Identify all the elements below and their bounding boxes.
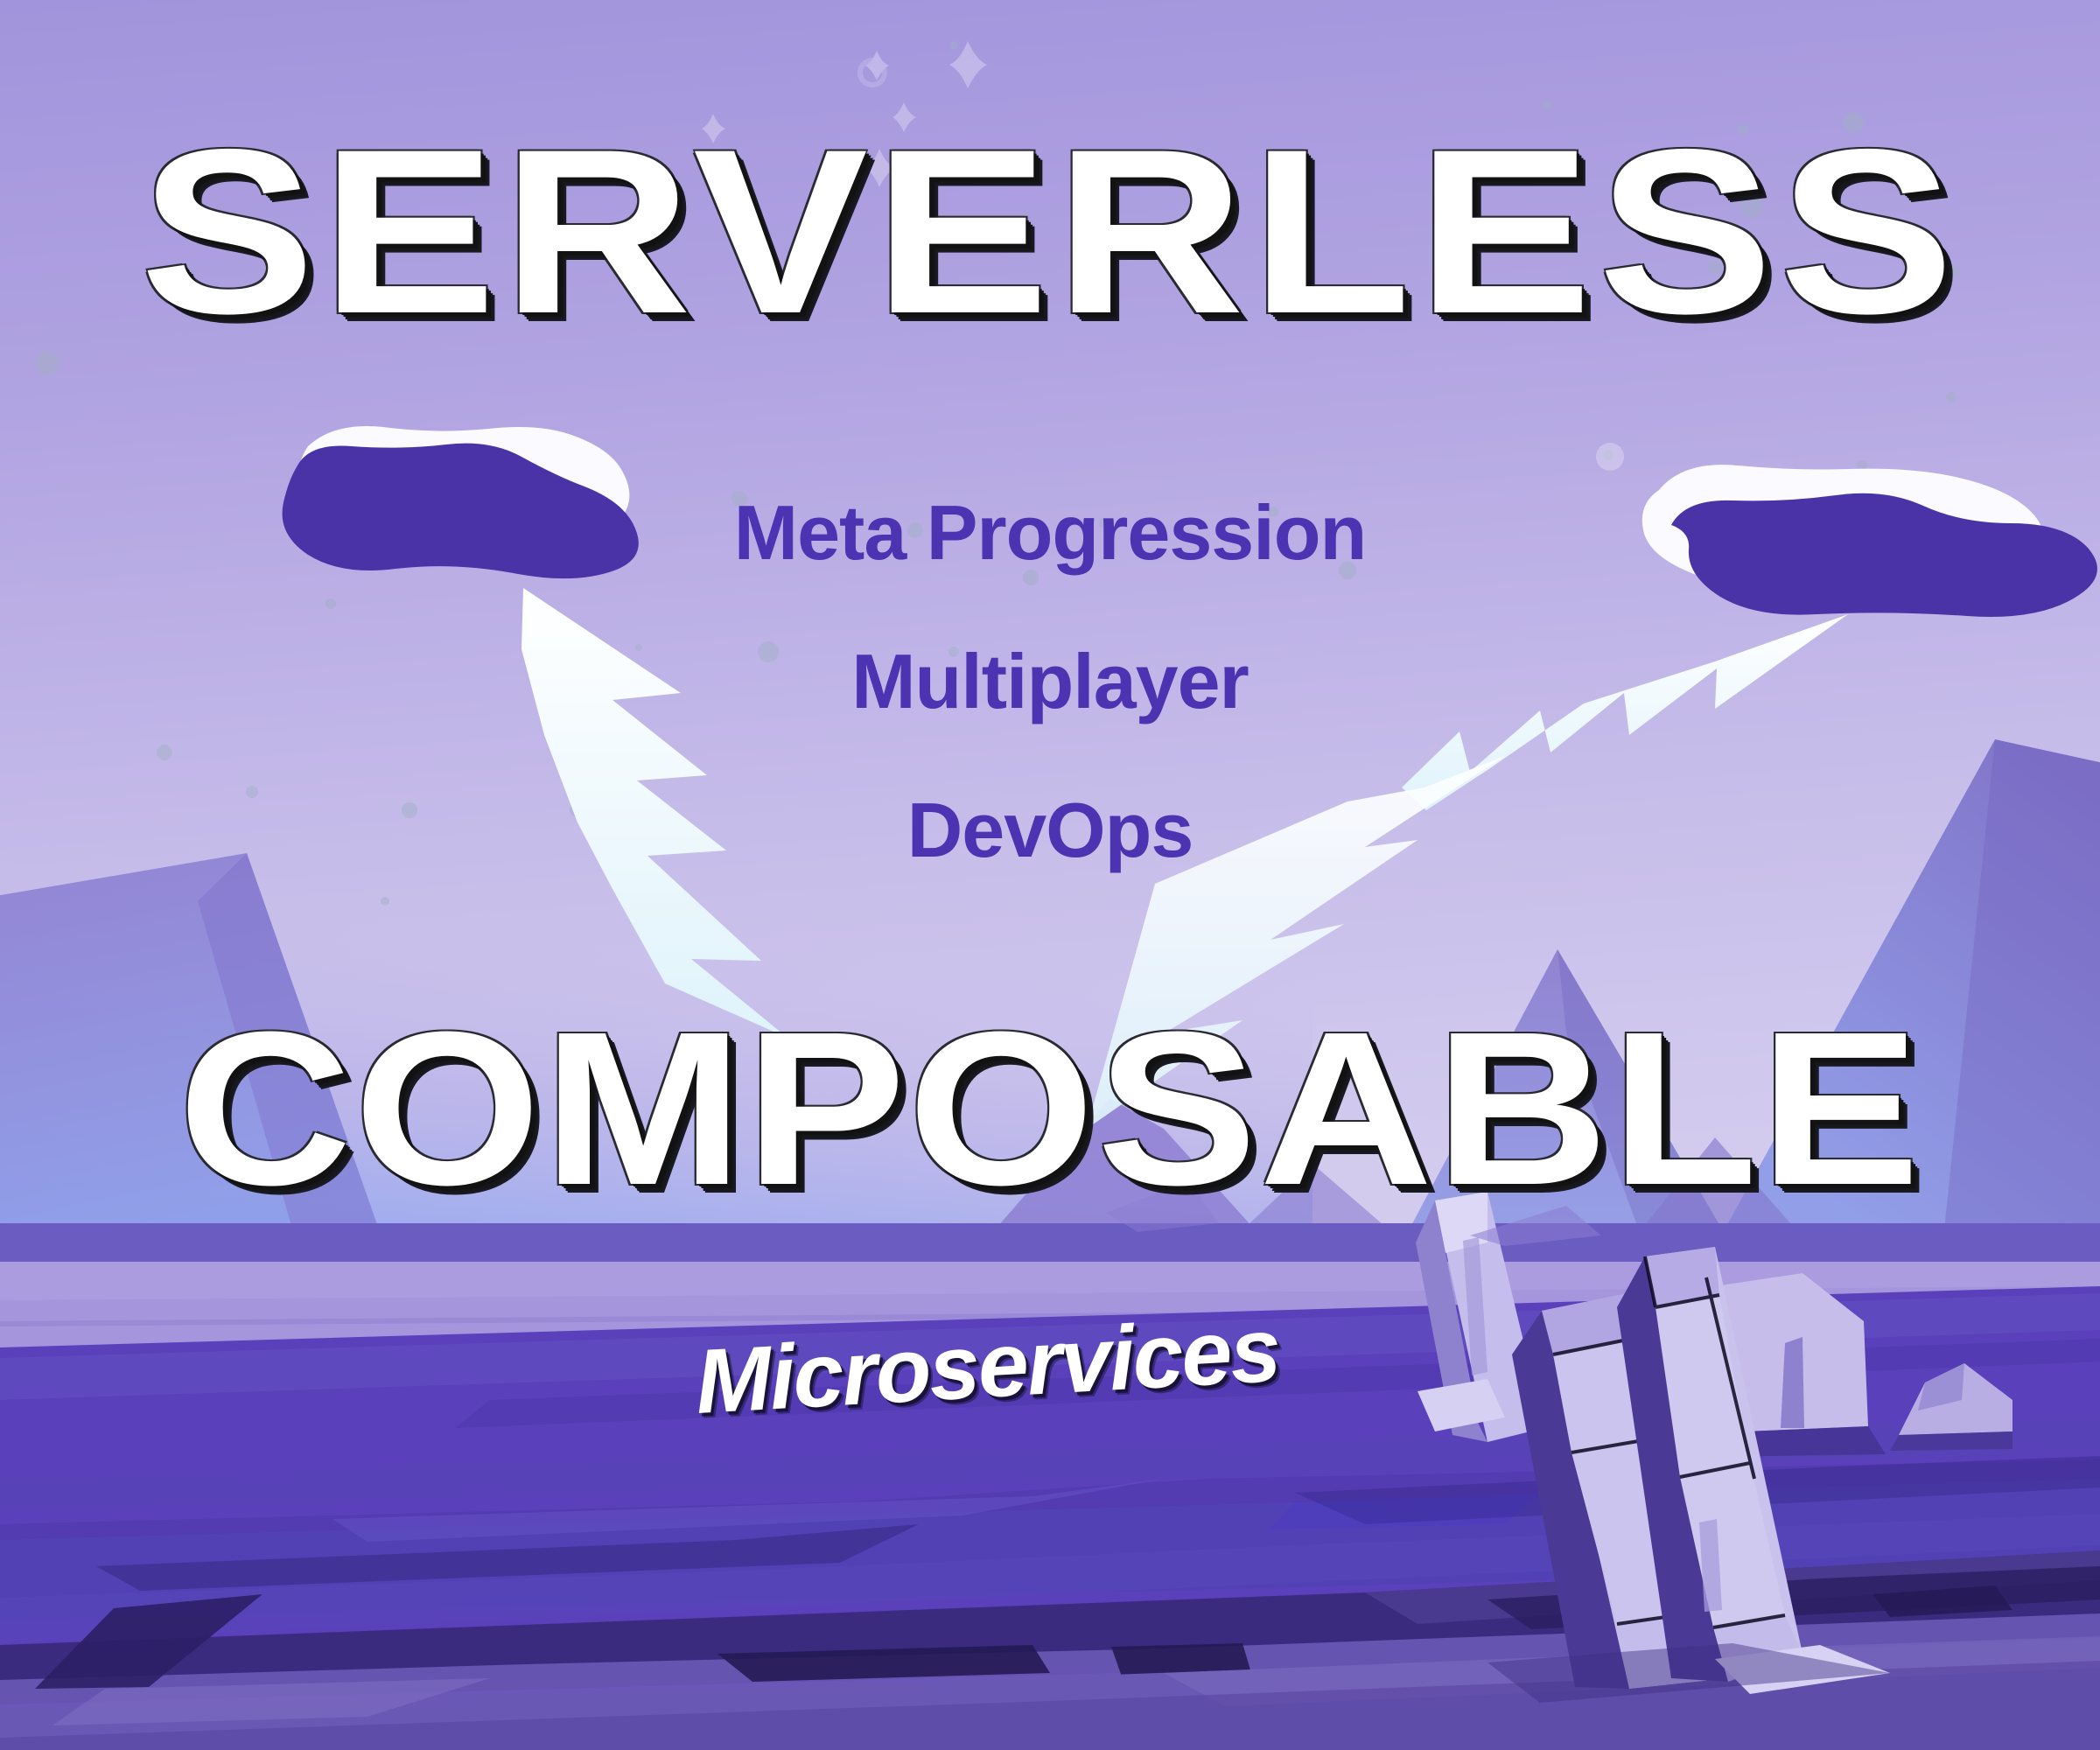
headline-composable: COMPOSABLE	[178, 999, 1922, 1218]
feature-meta-progression: Meta Progression	[734, 494, 1366, 571]
headline-serverless: SERVERLESS	[140, 114, 1960, 348]
poster-canvas: SERVERLESS Meta Progression Multiplayer …	[0, 0, 2100, 1750]
feature-multiplayer: Multiplayer	[851, 643, 1249, 720]
feature-devops: DevOps	[907, 792, 1193, 869]
